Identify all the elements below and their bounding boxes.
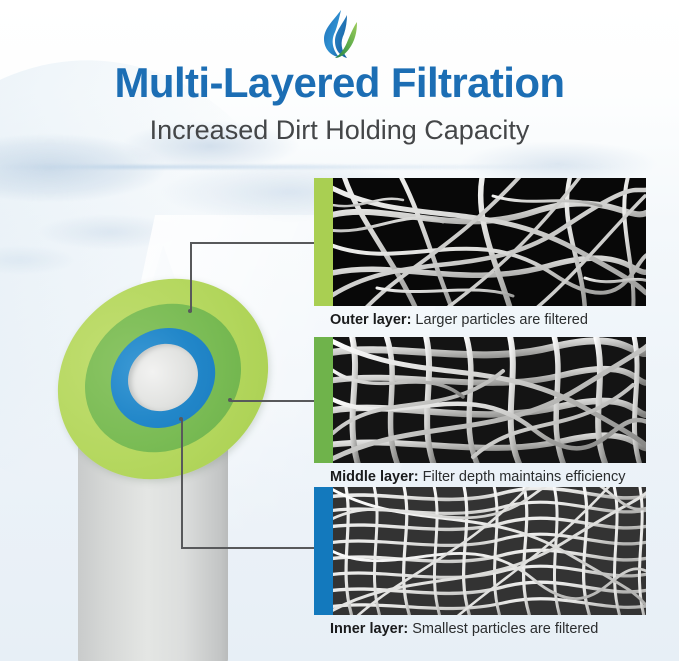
leader-line-outer-horizontal	[190, 242, 324, 244]
water-drop-leaf-logo	[314, 6, 366, 62]
sem-fine-fibers-very-dense	[333, 487, 646, 615]
panel-inner-color-bar	[314, 487, 333, 615]
panel-outer-color-bar	[314, 178, 333, 306]
sem-coarse-fibers-dark	[333, 178, 646, 306]
caption-inner-layer: Inner layer: Smallest particles are filt…	[330, 621, 598, 637]
caption-middle-text: Filter depth maintains efficiency	[419, 469, 626, 485]
panel-inner-layer	[314, 487, 646, 615]
panel-middle-color-bar	[314, 337, 333, 463]
caption-outer-layer: Outer layer: Larger particles are filter…	[330, 312, 588, 328]
page-title: Multi-Layered Filtration	[0, 62, 679, 104]
caption-middle-label: Middle layer:	[330, 469, 419, 485]
leader-anchor-outer	[188, 309, 192, 313]
caption-inner-label: Inner layer:	[330, 621, 408, 637]
infographic-page: Multi-Layered Filtration Increased Dirt …	[0, 0, 679, 661]
leader-line-inner-vertical	[181, 419, 183, 548]
caption-outer-text: Larger particles are filtered	[411, 312, 588, 328]
water-streak	[0, 165, 679, 169]
caption-middle-layer: Middle layer: Filter depth maintains eff…	[330, 469, 626, 485]
leader-anchor-inner	[179, 417, 183, 421]
leader-anchor-middle	[228, 398, 232, 402]
leader-line-outer-vertical	[190, 242, 192, 312]
caption-inner-text: Smallest particles are filtered	[408, 621, 598, 637]
filter-cartridge	[52, 275, 302, 661]
page-subtitle: Increased Dirt Holding Capacity	[0, 117, 679, 144]
caption-outer-label: Outer layer:	[330, 312, 411, 328]
panel-middle-layer	[314, 337, 646, 463]
leader-line-middle-horizontal	[231, 400, 324, 402]
leader-line-inner-horizontal	[181, 547, 324, 549]
sem-medium-fibers-dense	[333, 337, 646, 463]
panel-outer-layer	[314, 178, 646, 306]
